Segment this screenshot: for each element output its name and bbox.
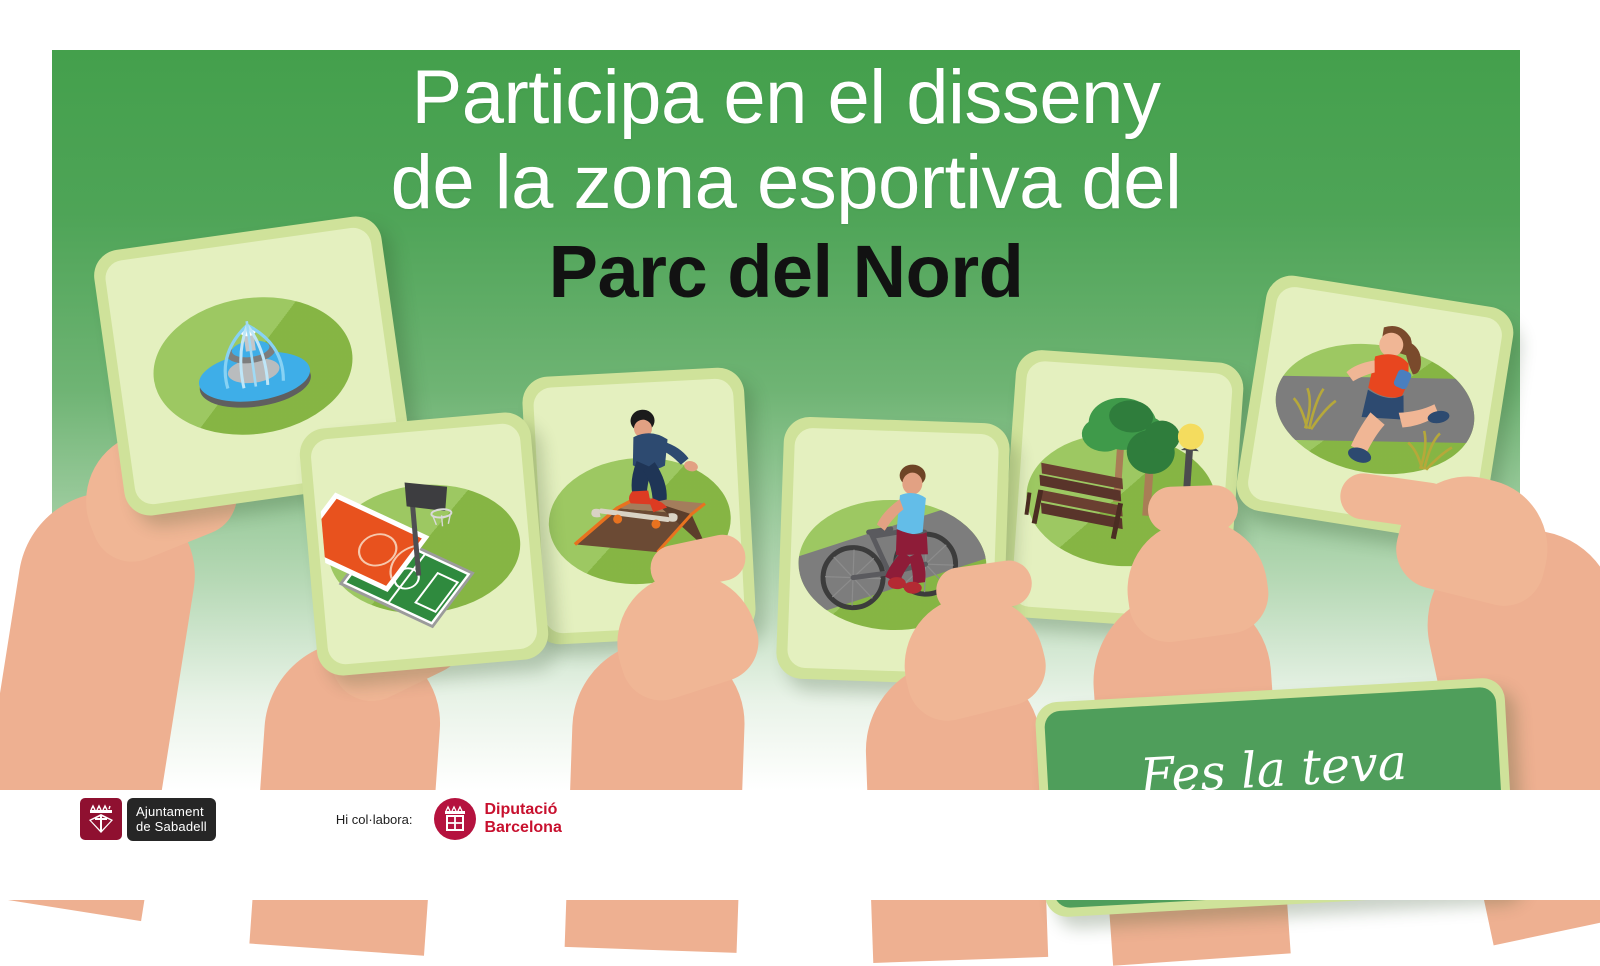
poster-canvas: Participa en el disseny de la zona espor… [0,0,1600,900]
ajuntament-line-1: Ajuntament [136,804,204,819]
diputacio-line-1: Diputació [484,801,557,818]
collaborator-block: Hi col·labora: Diputació Barcelon [336,798,562,840]
footer-logo-row: Ajuntament de Sabadell Hi col·labora: [80,798,562,841]
card-sports-court[interactable] [298,410,551,677]
diputacio-crest-icon [434,798,476,840]
diputacio-barcelona-name: Diputació Barcelona [484,801,561,837]
ajuntament-line-2: de Sabadell [136,819,207,834]
footer-bar: Ajuntament de Sabadell Hi col·labora: [0,790,1600,900]
ajuntament-sabadell-name: Ajuntament de Sabadell [127,798,216,841]
collaborator-label: Hi col·labora: [336,812,413,827]
sabadell-crest-icon [80,798,122,840]
card-sports-court-face [310,422,539,665]
diputacio-line-2: Barcelona [484,819,561,836]
fountain-icon [155,287,350,431]
ajuntament-sabadell-logo[interactable]: Ajuntament de Sabadell [80,798,216,841]
sports-court-icon [317,450,532,647]
diputacio-barcelona-logo[interactable]: Diputació Barcelona [434,798,561,840]
